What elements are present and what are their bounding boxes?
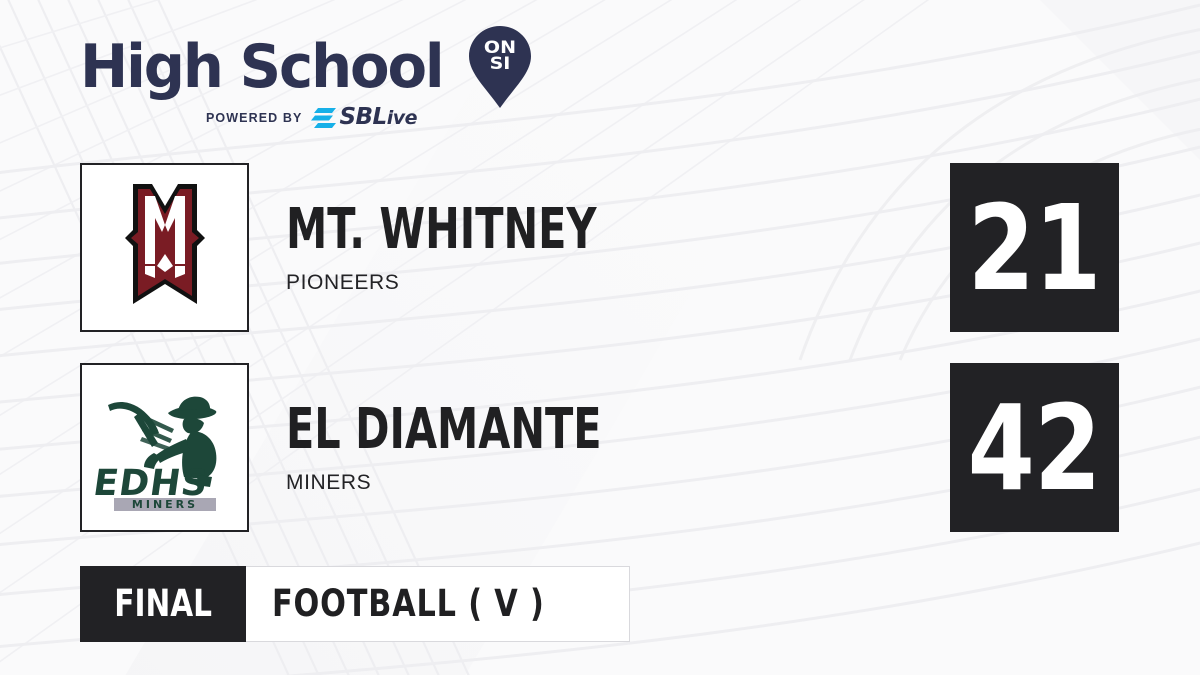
brand-header: High School ON SI POWERED BY SBLive <box>80 30 540 140</box>
team-name: EL DIAMANTE <box>286 402 602 458</box>
team-score: 21 <box>968 189 1101 307</box>
status-state-label: FINAL <box>114 585 212 623</box>
team-mascot: MINERS <box>286 472 712 494</box>
powered-by-label: POWERED BY <box>206 111 302 125</box>
mt-whitney-mw-monogram-logo <box>105 178 225 318</box>
team-name: MT. WHITNEY <box>286 202 596 258</box>
team-text-block: MT. WHITNEY PIONEERS <box>286 163 706 332</box>
brand-logo-row: High School ON SI <box>80 30 540 104</box>
on-si-pin-icon: ON SI <box>468 25 532 109</box>
sblive-s-mark-icon <box>311 107 337 129</box>
powered-by-row: POWERED BY SBLive <box>206 106 540 130</box>
sblive-wordmark: SBLive <box>339 106 417 130</box>
svg-text:MINERS: MINERS <box>131 498 197 511</box>
el-diamante-miner-logo: EDHS MINERS <box>92 383 238 513</box>
team-logo-card[interactable] <box>80 163 249 332</box>
team-mascot: PIONEERS <box>286 272 706 294</box>
sblive-word-main: SBL <box>339 104 386 130</box>
team-score: 42 <box>968 389 1101 507</box>
team-score-box: 21 <box>950 163 1119 332</box>
game-status-bar: FINAL FOOTBALL ( V ) <box>80 566 630 642</box>
team-logo-card[interactable]: EDHS MINERS <box>80 363 249 532</box>
sblive-logo: SBLive <box>311 106 417 130</box>
sport-label-box: FOOTBALL ( V ) <box>246 566 630 642</box>
status-badge: FINAL <box>80 566 246 642</box>
team-row: EDHS MINERS EL DIAMANTE MINERS 42 <box>0 363 1200 535</box>
team-text-block: EL DIAMANTE MINERS <box>286 363 712 532</box>
sblive-word-tail: ive <box>387 107 417 129</box>
brand-wordmark: High School <box>80 36 443 98</box>
sport-label: FOOTBALL ( V ) <box>272 585 545 623</box>
team-row: MT. WHITNEY PIONEERS 21 <box>0 163 1200 335</box>
on-si-pin-label: ON SI <box>464 40 536 72</box>
pin-label-line2: SI <box>464 56 536 72</box>
team-score-box: 42 <box>950 363 1119 532</box>
